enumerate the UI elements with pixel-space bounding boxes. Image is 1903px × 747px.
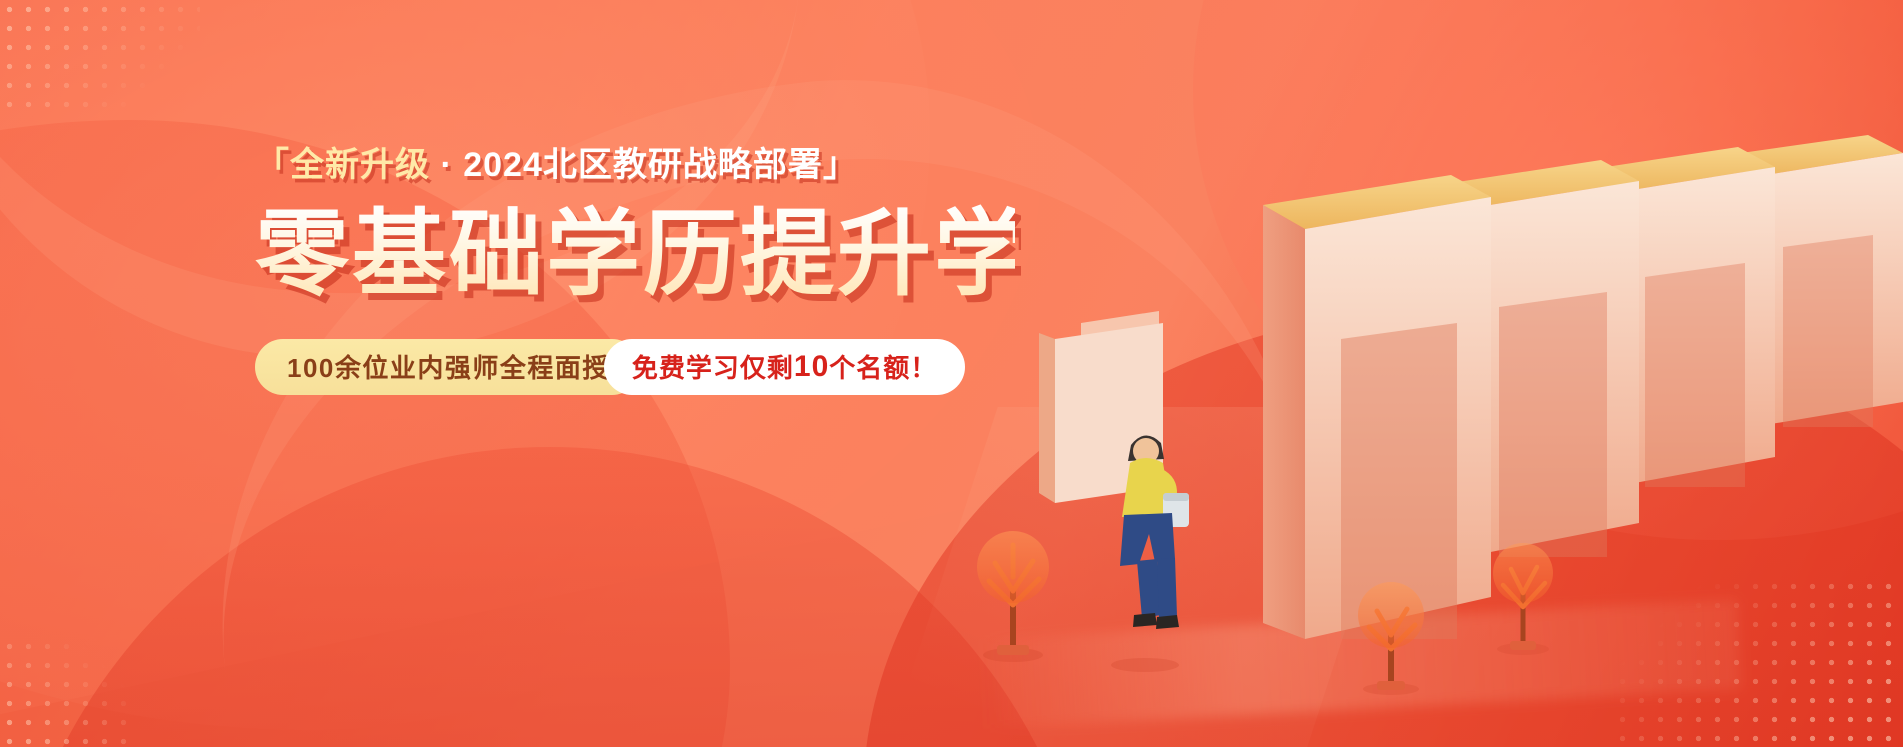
subtitle-main: 2024北区教研战略部署	[463, 146, 823, 184]
dot-pattern-top-left	[0, 0, 200, 110]
badge-free-seats-prefix: 免费学习仅剩	[632, 348, 794, 385]
subtitle-highlight: 全新升级	[290, 146, 430, 184]
badge-row: 100余位业内强师全程面授 免费学习仅剩10个名额！	[255, 339, 1015, 395]
banner-subtitle: 「全新升级 · 2024北区教研战略部署」	[255, 137, 858, 186]
badge-free-seats-count: 10	[794, 350, 829, 384]
promo-banner: 「全新升级 · 2024北区教研战略部署」 零基础学历提升学霸班 100余位业内…	[0, 0, 1903, 747]
tree-right	[1493, 543, 1553, 655]
banner-text-block: 「全新升级 · 2024北区教研战略部署」 零基础学历提升学霸班 100余位业内…	[255, 135, 1015, 395]
subtitle-open-bracket: 「	[255, 146, 290, 184]
banner-headline: 零基础学历提升学霸班	[255, 203, 1015, 305]
dot-pattern-bottom-left	[0, 637, 140, 747]
tree-middle	[1358, 582, 1424, 695]
subtitle-separator: ·	[440, 146, 452, 184]
background-blob-bottom	[0, 447, 1100, 747]
subtitle-close-bracket: 」	[823, 146, 858, 184]
badge-instructors[interactable]: 100余位业内强师全程面授	[255, 339, 640, 395]
subtitle-row: 「全新升级 · 2024北区教研战略部署」	[255, 135, 1015, 187]
tree-left	[977, 531, 1049, 662]
badge-free-seats[interactable]: 免费学习仅剩10个名额！	[604, 339, 965, 395]
badge-free-seats-suffix: 个名额！	[829, 348, 937, 385]
